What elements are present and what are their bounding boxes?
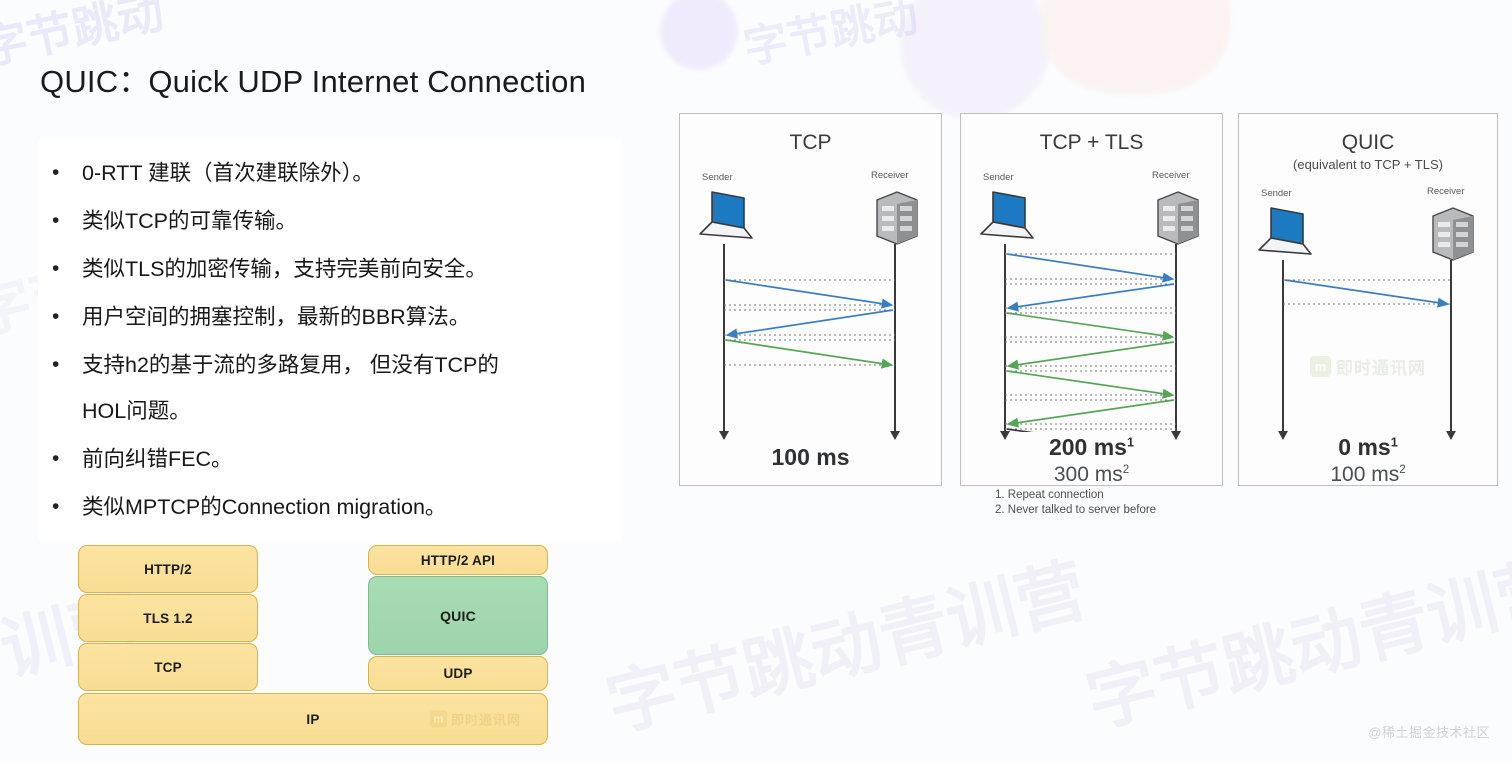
bullet-card: •0-RTT 建联（首次建联除外）。•类似TCP的可靠传输。•类似TLS的加密传… <box>38 140 621 540</box>
stack-block-tcp: TCP <box>78 643 258 691</box>
latency-primary-quic: 0 ms1 <box>1239 434 1497 461</box>
icc-logo-text: 即时通讯网 <box>451 710 521 729</box>
panel-tcp-tls: TCP + TLSSenderReceiver200 ms1300 ms2 <box>960 113 1223 486</box>
receiver-label-tcp: Receiver <box>871 170 909 181</box>
arrow-right <box>1007 371 1172 395</box>
page-title: QUIC：Quick UDP Internet Connection <box>40 56 586 101</box>
endpoint-icons-tcptls <box>961 186 1222 246</box>
bullet-text: 类似TLS的加密传输，支持完美前向安全。 <box>82 246 615 292</box>
bullet-item: •0-RTT 建联（首次建联除外）。 <box>52 150 615 196</box>
receiver-label-quic: Receiver <box>1427 186 1465 197</box>
title-colon: ： <box>118 64 148 99</box>
sender-label-tcp: Sender <box>702 172 733 183</box>
stack-block-http2-api: HTTP/2 API <box>368 545 548 575</box>
arrow-left <box>1009 400 1174 424</box>
arrow-left <box>1009 342 1174 366</box>
bullet-item: •前向纠错FEC。 <box>52 436 615 482</box>
stack-block-ip: IP m 即时通讯网 <box>78 693 548 745</box>
bullet-item: •支持h2的基于流的多路复用， 但没有TCP的 HOL问题。 <box>52 342 615 434</box>
panel-title-quic: QUIC <box>1239 131 1497 155</box>
icc-logo-mark: m <box>430 711 447 728</box>
latency-secondary-value: 300 ms <box>1054 463 1123 486</box>
latency-primary-footnote-ref: 1 <box>1391 435 1398 449</box>
icc-watermark-stack: m 即时通讯网 <box>430 710 521 729</box>
stack-block-ip-label: IP <box>306 712 319 727</box>
arrow-right <box>1007 313 1172 337</box>
watermark-bytedance-4: 字节跳动青训营 <box>1075 530 1512 747</box>
latency-secondary-value: 100 ms <box>1330 463 1399 486</box>
arrow-right <box>1285 280 1447 304</box>
bullet-item: •类似TLS的加密传输，支持完美前向安全。 <box>52 246 615 292</box>
server-icon <box>1158 192 1198 244</box>
laptop-icon <box>1259 208 1311 254</box>
bullet-text: 支持h2的基于流的多路复用， 但没有TCP的 HOL问题。 <box>82 342 615 434</box>
footnote-2: 2. Never talked to server before <box>995 503 1156 518</box>
latency-secondary-tcptls: 300 ms2 <box>961 463 1222 487</box>
latency-primary-value: 200 ms <box>1049 434 1127 460</box>
watermark-bytedance-2: 字节跳动 <box>738 0 923 76</box>
bullet-text: 前向纠错FEC。 <box>82 436 615 482</box>
bullet-marker-icon: • <box>52 342 82 388</box>
panel-subtitle-quic: (equivalent to TCP + TLS) <box>1239 157 1497 172</box>
decor-blob-peach <box>1040 0 1230 95</box>
latency-primary-tcptls: 200 ms1 <box>961 434 1222 461</box>
latency-primary-value: 0 ms <box>1338 434 1390 460</box>
bullet-marker-icon: • <box>52 294 82 340</box>
arrow-right <box>1007 254 1172 279</box>
footnotes: 1. Repeat connection 2. Never talked to … <box>995 488 1156 518</box>
panel-quic: QUIC(equivalent to TCP + TLS)SenderRecei… <box>1238 113 1498 486</box>
sender-label-tcptls: Sender <box>983 172 1014 183</box>
bullet-text: 用户空间的拥塞控制，最新的BBR算法。 <box>82 294 615 340</box>
bullet-list: •0-RTT 建联（首次建联除外）。•类似TCP的可靠传输。•类似TLS的加密传… <box>52 150 615 532</box>
footnote-1: 1. Repeat connection <box>995 488 1156 503</box>
title-prefix: QUIC <box>40 64 118 99</box>
stack-block-tls12: TLS 1.2 <box>78 594 258 642</box>
latency-primary-footnote-ref: 1 <box>1127 435 1134 449</box>
bullet-marker-icon: • <box>52 198 82 244</box>
receiver-label-tcptls: Receiver <box>1152 170 1190 181</box>
panel-title-tcptls: TCP + TLS <box>961 131 1222 155</box>
latency-secondary-quic: 100 ms2 <box>1239 463 1497 487</box>
endpoint-icons-tcp <box>680 186 941 246</box>
latency-secondary-footnote-ref: 2 <box>1123 464 1129 476</box>
message-arrows-quic <box>1239 260 1497 432</box>
message-arrows-tcp <box>680 244 941 432</box>
bullet-text: 0-RTT 建联（首次建联除外）。 <box>82 150 615 196</box>
watermark-bytedance-3: 字节跳动青训营 <box>595 534 1095 751</box>
slide-root: 字节跳动 字节跳动 字节跳动青训营 青训营 字节跳动青训营 字节跳动 QUIC：… <box>0 0 1512 763</box>
bullet-item: •用户空间的拥塞控制，最新的BBR算法。 <box>52 294 615 340</box>
latency-secondary-footnote-ref: 2 <box>1399 464 1405 476</box>
arrow-right <box>726 280 891 305</box>
latency-primary-value: 100 ms <box>771 444 849 470</box>
stack-block-udp: UDP <box>368 656 548 691</box>
bullet-item: •类似TCP的可靠传输。 <box>52 198 615 244</box>
panel-tcp: TCPSenderReceiver100 ms <box>679 113 942 486</box>
panel-title-tcp: TCP <box>680 131 941 155</box>
bullet-marker-icon: • <box>52 436 82 482</box>
decor-blob-blue <box>900 0 1050 120</box>
bullet-marker-icon: • <box>52 484 82 530</box>
bullet-marker-icon: • <box>52 150 82 196</box>
stack-block-quic: QUIC <box>368 576 548 655</box>
decor-blob-purple <box>660 0 738 70</box>
message-arrows-tcptls <box>961 244 1222 432</box>
arrow-left <box>728 310 893 335</box>
server-icon <box>877 192 917 244</box>
bullet-text: 类似MPTCP的Connection migration。 <box>82 484 615 530</box>
title-main: Quick UDP Internet Connection <box>148 64 586 99</box>
stack-block-http2: HTTP/2 <box>78 545 258 593</box>
laptop-icon <box>700 192 752 238</box>
bullet-item: •类似MPTCP的Connection migration。 <box>52 484 615 530</box>
sender-label-quic: Sender <box>1261 188 1292 199</box>
laptop-icon <box>981 192 1033 238</box>
server-icon <box>1433 208 1473 260</box>
bullet-text: 类似TCP的可靠传输。 <box>82 198 615 244</box>
arrow-left <box>1009 284 1174 308</box>
latency-primary-tcp: 100 ms <box>680 444 941 471</box>
protocol-stack-diagram: HTTP/2 TLS 1.2 TCP HTTP/2 API QUIC UDP I… <box>78 545 556 750</box>
endpoint-icons-quic <box>1239 202 1497 262</box>
arrow-right <box>726 340 891 365</box>
credit-label: @稀土掘金技术社区 <box>1368 722 1490 741</box>
bullet-marker-icon: • <box>52 246 82 292</box>
